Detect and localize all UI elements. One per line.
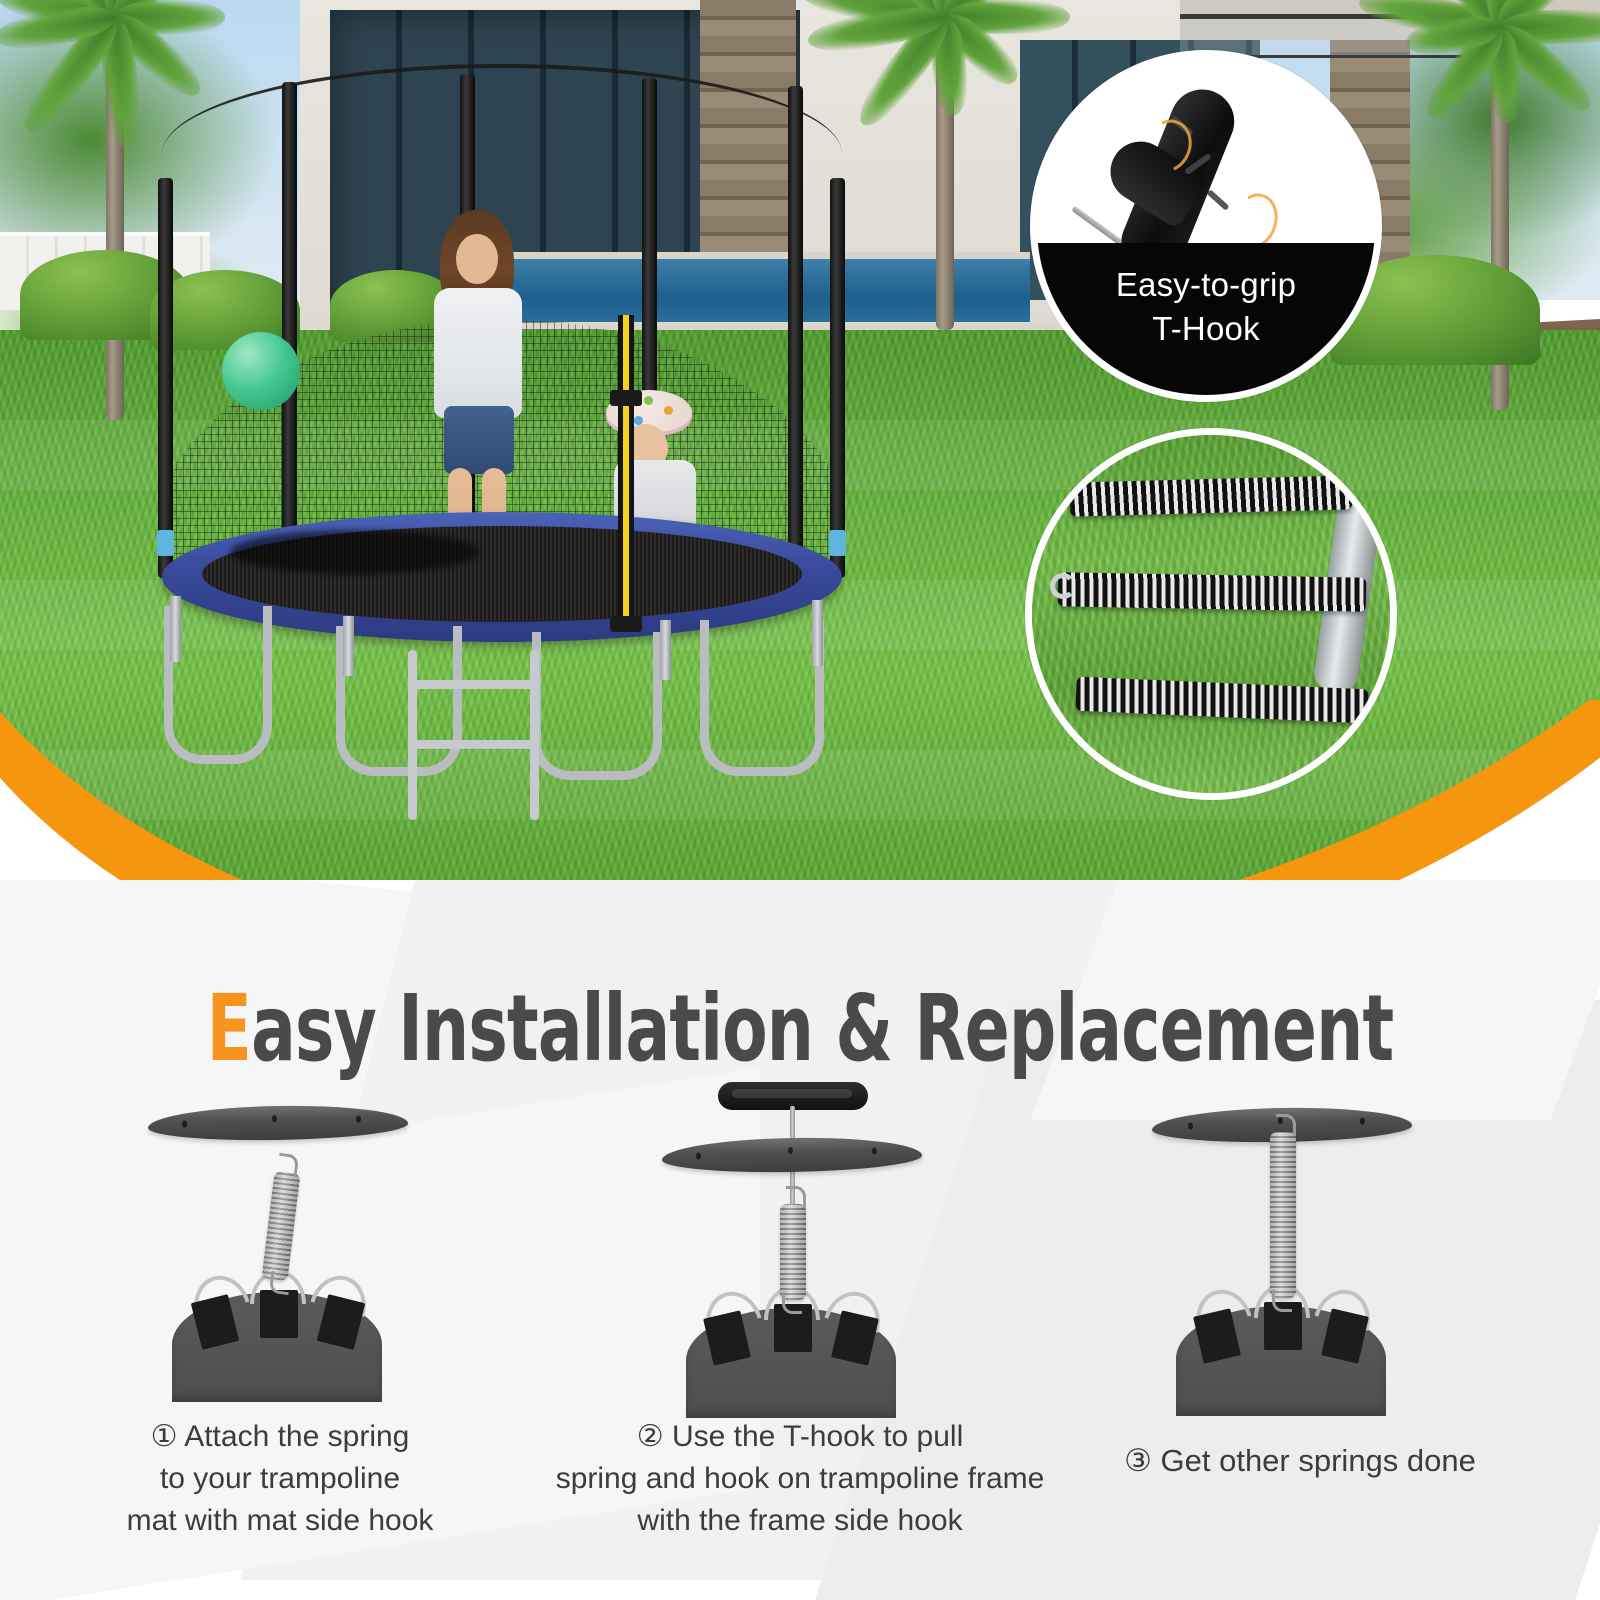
net-entry-pole	[618, 315, 634, 625]
spring-hook-bottom	[1272, 1290, 1292, 1312]
headline-rest: asy Installation & Replacement	[251, 975, 1393, 1082]
spring-hook-top	[1276, 1114, 1296, 1136]
product-infographic: Easy-to-grip T-Hook	[0, 0, 1600, 1600]
step-1-line-2: to your trampoline	[160, 1462, 400, 1495]
step-3-diagram	[1040, 1080, 1560, 1410]
step-2-line-2: spring and hook on trampoline frame	[556, 1462, 1045, 1495]
step-2: ② Use the T-hook to pull spring and hook…	[540, 1080, 1060, 1580]
green-ball	[222, 332, 300, 410]
pole-cap	[157, 530, 174, 556]
frame-bar	[662, 1136, 923, 1175]
spring	[262, 1171, 301, 1281]
net-pole	[830, 178, 845, 578]
step-2-line-3: with the frame side hook	[637, 1504, 962, 1537]
step-3-caption: ③ Get other springs done	[1040, 1440, 1560, 1482]
net-pole	[282, 82, 297, 582]
step-1-caption: ① Attach the spring to your trampoline m…	[20, 1416, 540, 1542]
spring-hook-top	[786, 1186, 806, 1208]
spring	[1270, 1132, 1296, 1298]
mat-tab	[260, 1290, 298, 1338]
ladder-step	[408, 680, 539, 689]
palm-tree-center	[880, 0, 1010, 330]
step-3-line-1: ③ Get other springs done	[1124, 1443, 1476, 1478]
t-hook-label-line2: T-Hook	[1152, 310, 1260, 347]
step-1-line-3: mat with mat side hook	[127, 1504, 434, 1537]
frame-bar	[148, 1104, 409, 1143]
step-1-diagram	[20, 1080, 540, 1410]
t-hook-label-band: Easy-to-grip T-Hook	[1037, 243, 1375, 395]
callout-t-hook: Easy-to-grip T-Hook	[1030, 50, 1382, 402]
step-1-line-1: ① Attach the spring	[151, 1420, 410, 1453]
step-2-diagram	[540, 1080, 1060, 1410]
net-pole	[788, 86, 803, 586]
headline-capital: E	[207, 975, 251, 1082]
mat-shadow	[230, 530, 480, 574]
instructions-section: Easy Installation & Replacement	[0, 880, 1600, 1600]
page-title: Easy Installation & Replacement	[160, 975, 1440, 1082]
spring-hook-top	[277, 1153, 300, 1178]
spring-hook-bottom	[782, 1292, 802, 1314]
net-pole	[158, 178, 173, 578]
step-2-line-1: ② Use the T-hook to pull	[637, 1420, 964, 1453]
step-1: ① Attach the spring to your trampoline m…	[20, 1080, 540, 1580]
step-2-caption: ② Use the T-hook to pull spring and hook…	[540, 1416, 1060, 1542]
t-hook-label-line1: Easy-to-grip	[1116, 266, 1296, 303]
net-clip	[610, 390, 642, 406]
net-clip	[610, 616, 642, 632]
steps-row: ① Attach the spring to your trampoline m…	[0, 1080, 1600, 1580]
pole-cap	[829, 530, 846, 556]
spring	[780, 1204, 806, 1300]
step-3: ③ Get other springs done	[1040, 1080, 1560, 1580]
